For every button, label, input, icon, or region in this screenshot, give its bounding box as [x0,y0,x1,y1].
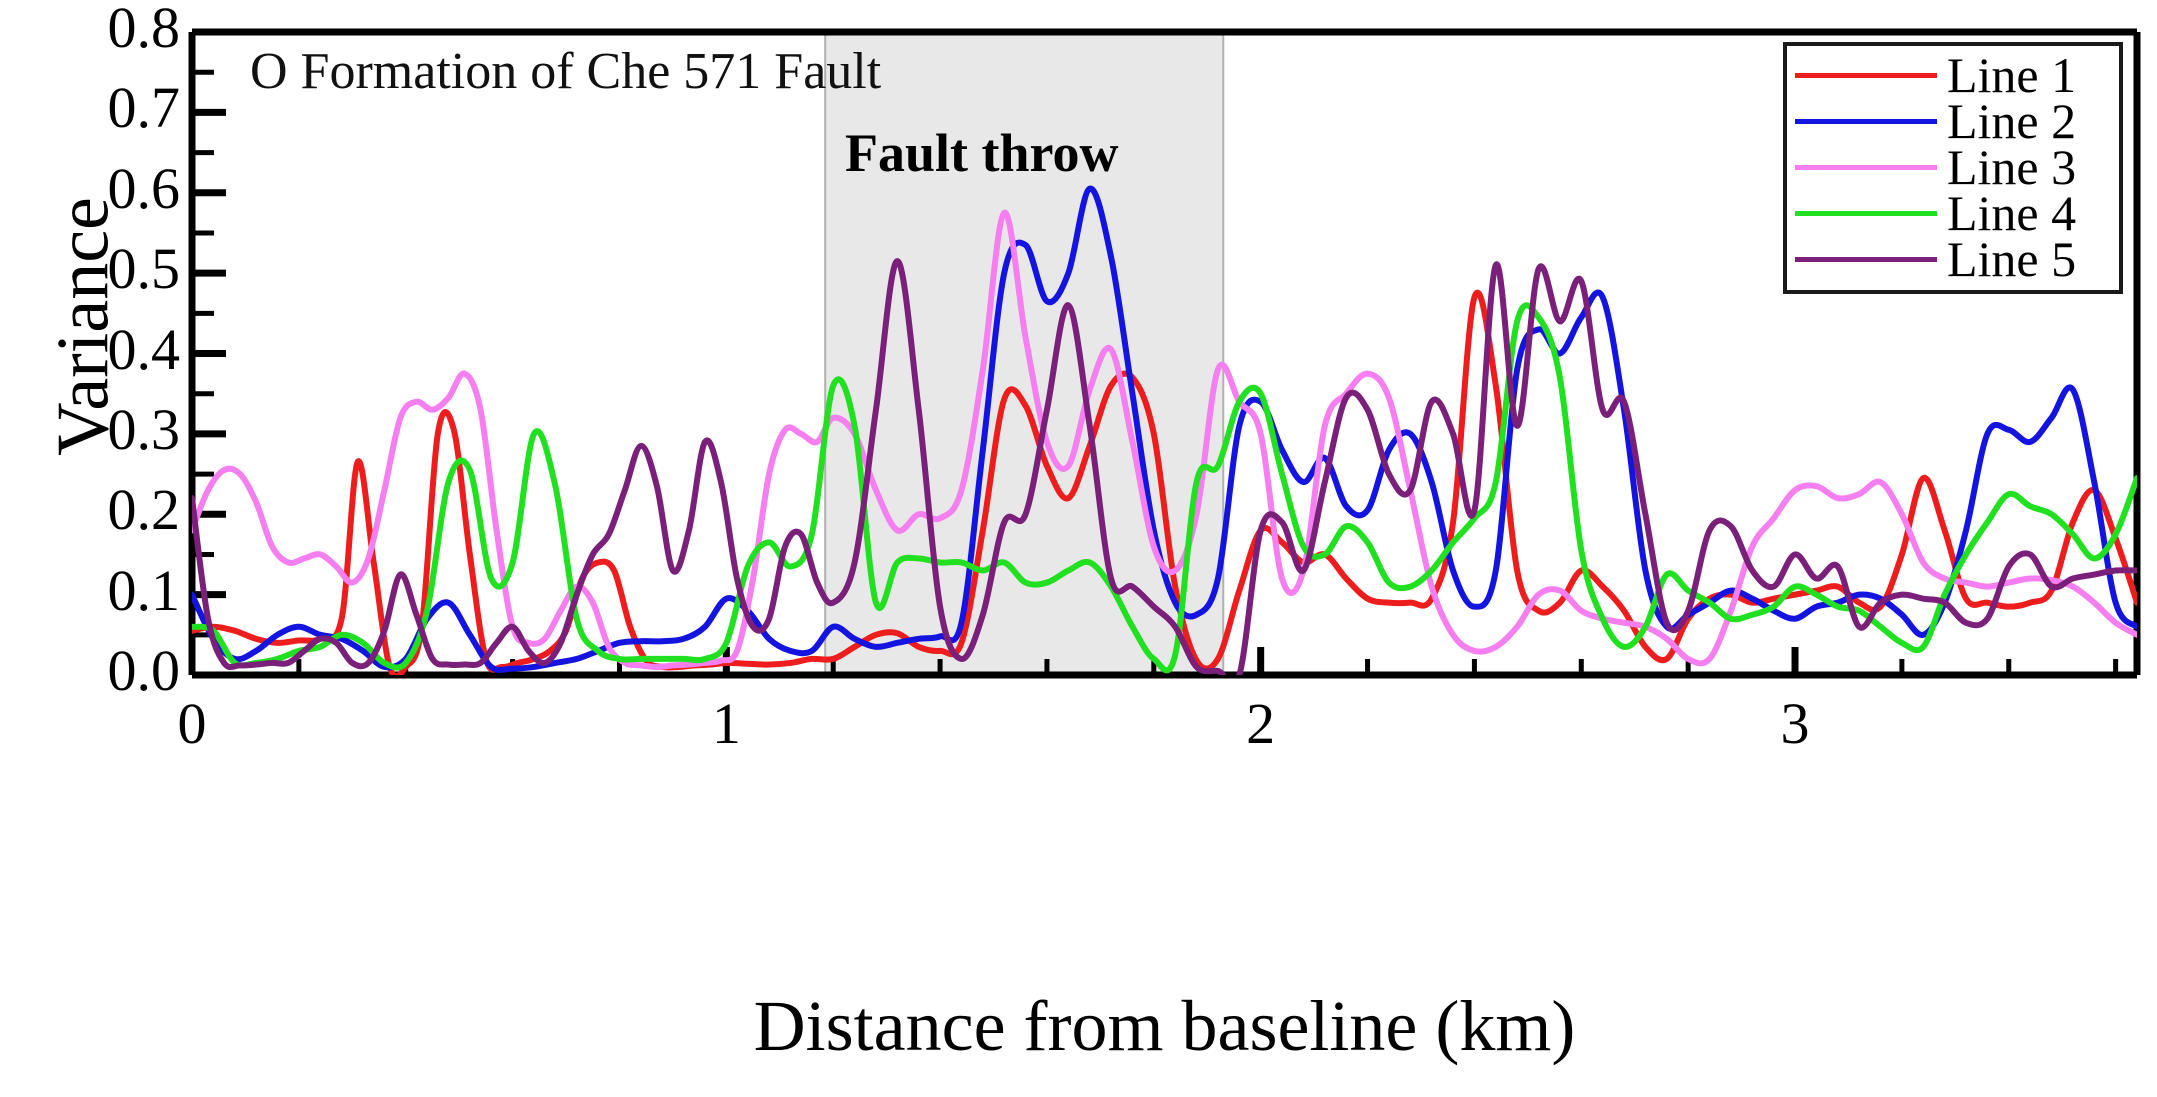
y-tick-label: 0.0 [20,637,180,704]
legend-color-swatch [1795,165,1937,170]
legend-item-label: Line 2 [1947,98,2076,144]
legend-color-swatch [1795,73,1937,78]
legend-item-label: Line 1 [1947,52,2076,98]
legend-item-label: Line 3 [1947,144,2076,190]
legend-item-5[interactable]: Line 5 [1795,236,2111,282]
legend-color-swatch [1795,211,1937,216]
x-axis-label: Distance from baseline (km) [192,985,2137,1068]
variance-chart-figure: Variance Distance from baseline (km) O F… [0,0,2157,1097]
legend-item-1[interactable]: Line 1 [1795,52,2111,98]
x-tick-label: 2 [1201,690,1321,757]
legend-item-2[interactable]: Line 2 [1795,98,2111,144]
legend-item-3[interactable]: Line 3 [1795,144,2111,190]
x-tick-label: 3 [1735,690,1855,757]
y-tick-label: 0.6 [20,155,180,222]
y-tick-label: 0.8 [20,0,180,61]
y-tick-label: 0.7 [20,74,180,141]
chart-title-annotation: O Formation of Che 571 Fault [250,42,881,101]
y-tick-label: 0.2 [20,476,180,543]
fault-throw-annotation: Fault throw [845,122,1119,184]
legend-item-4[interactable]: Line 4 [1795,190,2111,236]
y-tick-label: 0.4 [20,316,180,383]
y-tick-label: 0.5 [20,235,180,302]
legend-color-swatch [1795,257,1937,262]
y-tick-label: 0.3 [20,396,180,463]
legend-item-label: Line 4 [1947,190,2076,236]
y-tick-label: 0.1 [20,557,180,624]
x-tick-label: 1 [666,690,786,757]
legend: Line 1Line 2Line 3Line 4Line 5 [1783,42,2123,294]
legend-item-label: Line 5 [1947,236,2076,282]
legend-color-swatch [1795,119,1937,124]
